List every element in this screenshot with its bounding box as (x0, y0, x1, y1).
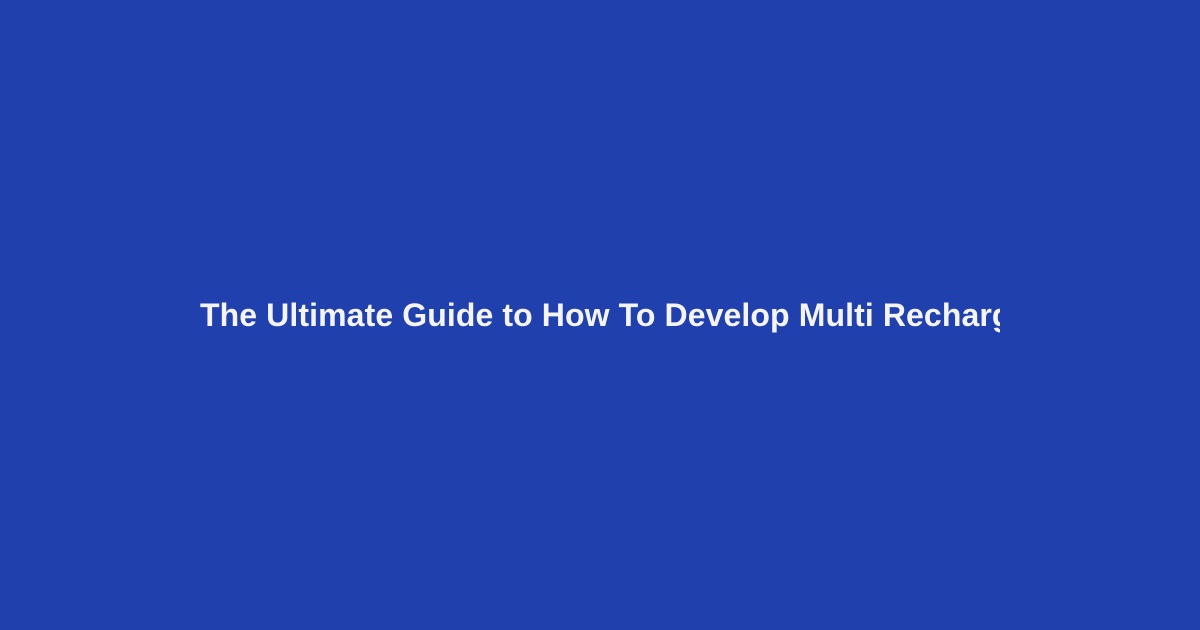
social-share-card: The Ultimate Guide to How To Develop Mul… (0, 0, 1200, 630)
page-title: The Ultimate Guide to How To Develop Mul… (200, 295, 1000, 336)
